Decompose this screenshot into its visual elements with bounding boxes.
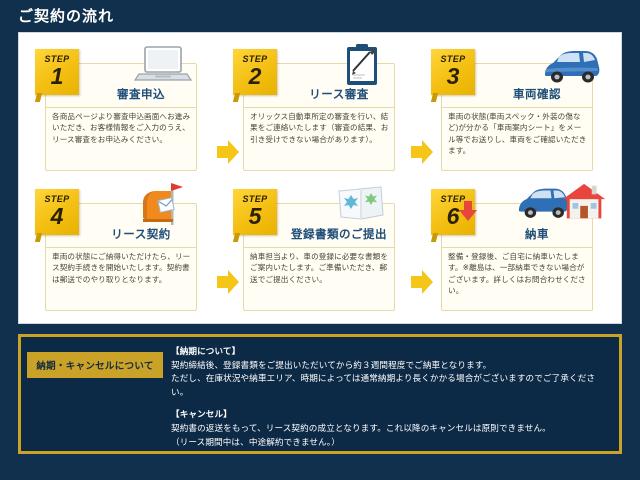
- step-body-6: 整備・登録後、ご自宅に納車いたします。※離島は、一部納車できない場合がございます…: [448, 251, 587, 297]
- arrow-down-icon: [459, 201, 477, 221]
- blue-car-icon: [537, 43, 605, 91]
- page-root: ご契約の流れ 審査申込 各商品ページより審査申込画面へお進みいただき、お客様情報…: [0, 0, 640, 480]
- notice-panel: 納期・キャンセルについて 【納期について】 契約締結後、登録書類をご提出いただい…: [18, 334, 622, 454]
- step-cell-1: 審査申込 各商品ページより審査申込画面へお進みいただき、お客様情報をご入力のうえ…: [31, 45, 215, 175]
- clipboard-pen-icon: [329, 41, 393, 89]
- step-body-4: 車両の状態にご納得いただけたら、リース契約手続きを開始いたします。契約書は郵送で…: [52, 251, 191, 285]
- notice-label: 納期・キャンセルについて: [27, 352, 163, 378]
- step-cell-2: リース審査 オリックス自動車所定の審査を行い、結果をご連絡いたします（審査の結果…: [229, 45, 413, 175]
- car-house-icon: [517, 179, 609, 227]
- cancel-heading: 【キャンセル】: [171, 408, 611, 422]
- step-body-5: 納車担当より、車の登録に必要な書類をご案内いたします。ご準備いただき、郵送でご提…: [250, 251, 389, 285]
- page-title: ご契約の流れ: [18, 7, 114, 27]
- cancel-line-1: 契約書の返送をもって、リース契約の成立となります。これ以降のキャンセルは原則でき…: [171, 422, 611, 436]
- step-badge-number-1: 1: [35, 63, 79, 89]
- step-cell-6: 納車 整備・登録後、ご自宅に納車いたします。※離島は、一部納車できない場合がござ…: [427, 185, 611, 315]
- step-badge-number-2: 2: [233, 63, 277, 89]
- step-title-6: 納車: [486, 226, 588, 242]
- documents-icon: [329, 181, 393, 229]
- arrow-right-icon: [217, 139, 239, 165]
- step-cell-4: リース契約 車両の状態にご納得いただけたら、リース契約手続きを開始いたします。契…: [31, 185, 215, 315]
- contract-flow-panel: 審査申込 各商品ページより審査申込画面へお進みいただき、お客様情報をご入力のうえ…: [18, 32, 622, 324]
- step-cell-5: 登録書類のご提出 納車担当より、車の登録に必要な書類をご案内いたします。ご準備い…: [229, 185, 413, 315]
- step-body-2: オリックス自動車所定の審査を行い、結果をご連絡いたします（審査の結果、お引き受け…: [250, 111, 389, 145]
- step-badge-number-4: 4: [35, 203, 79, 229]
- step-badge-number-5: 5: [233, 203, 277, 229]
- step-badge-1: STEP 1: [35, 49, 79, 95]
- step-badge-2: STEP 2: [233, 49, 277, 95]
- step-body-1: 各商品ページより審査申込画面へお進みいただき、お客様情報をご入力のうえ、リース審…: [52, 111, 191, 145]
- step-badge-number-3: 3: [431, 63, 475, 89]
- delivery-heading: 【納期について】: [171, 345, 611, 359]
- steps-grid: 審査申込 各商品ページより審査申込画面へお進みいただき、お客様情報をご入力のうえ…: [31, 45, 611, 315]
- step-cell-3: 車両確認 車両の状態(車両スペック・外装の傷など)が分かる「車両案内シート」をメ…: [427, 45, 611, 175]
- laptop-icon: [131, 41, 195, 89]
- notice-spacer: [171, 399, 611, 408]
- arrow-right-icon: [411, 139, 433, 165]
- step-badge-5: STEP 5: [233, 189, 277, 235]
- step-badge-3: STEP 3: [431, 49, 475, 95]
- step-badge-4: STEP 4: [35, 189, 79, 235]
- mailbox-icon: [131, 181, 195, 229]
- delivery-line-2: ただし、在庫状況や納車エリア、時期によっては通常納期より長くかかる場合がございま…: [171, 372, 611, 399]
- step-body-3: 車両の状態(車両スペック・外装の傷など)が分かる「車両案内シート」をメール等でお…: [448, 111, 587, 157]
- notice-body: 【納期について】 契約締結後、登録書類をご提出いただいてから約３週間程度でご納車…: [171, 345, 611, 449]
- cancel-line-2: （リース期間中は、中途解約できません。）: [171, 436, 611, 450]
- arrow-right-icon: [217, 269, 239, 295]
- arrow-right-icon: [411, 269, 433, 295]
- delivery-line-1: 契約締結後、登録書類をご提出いただいてから約３週間程度でご納車となります。: [171, 359, 611, 373]
